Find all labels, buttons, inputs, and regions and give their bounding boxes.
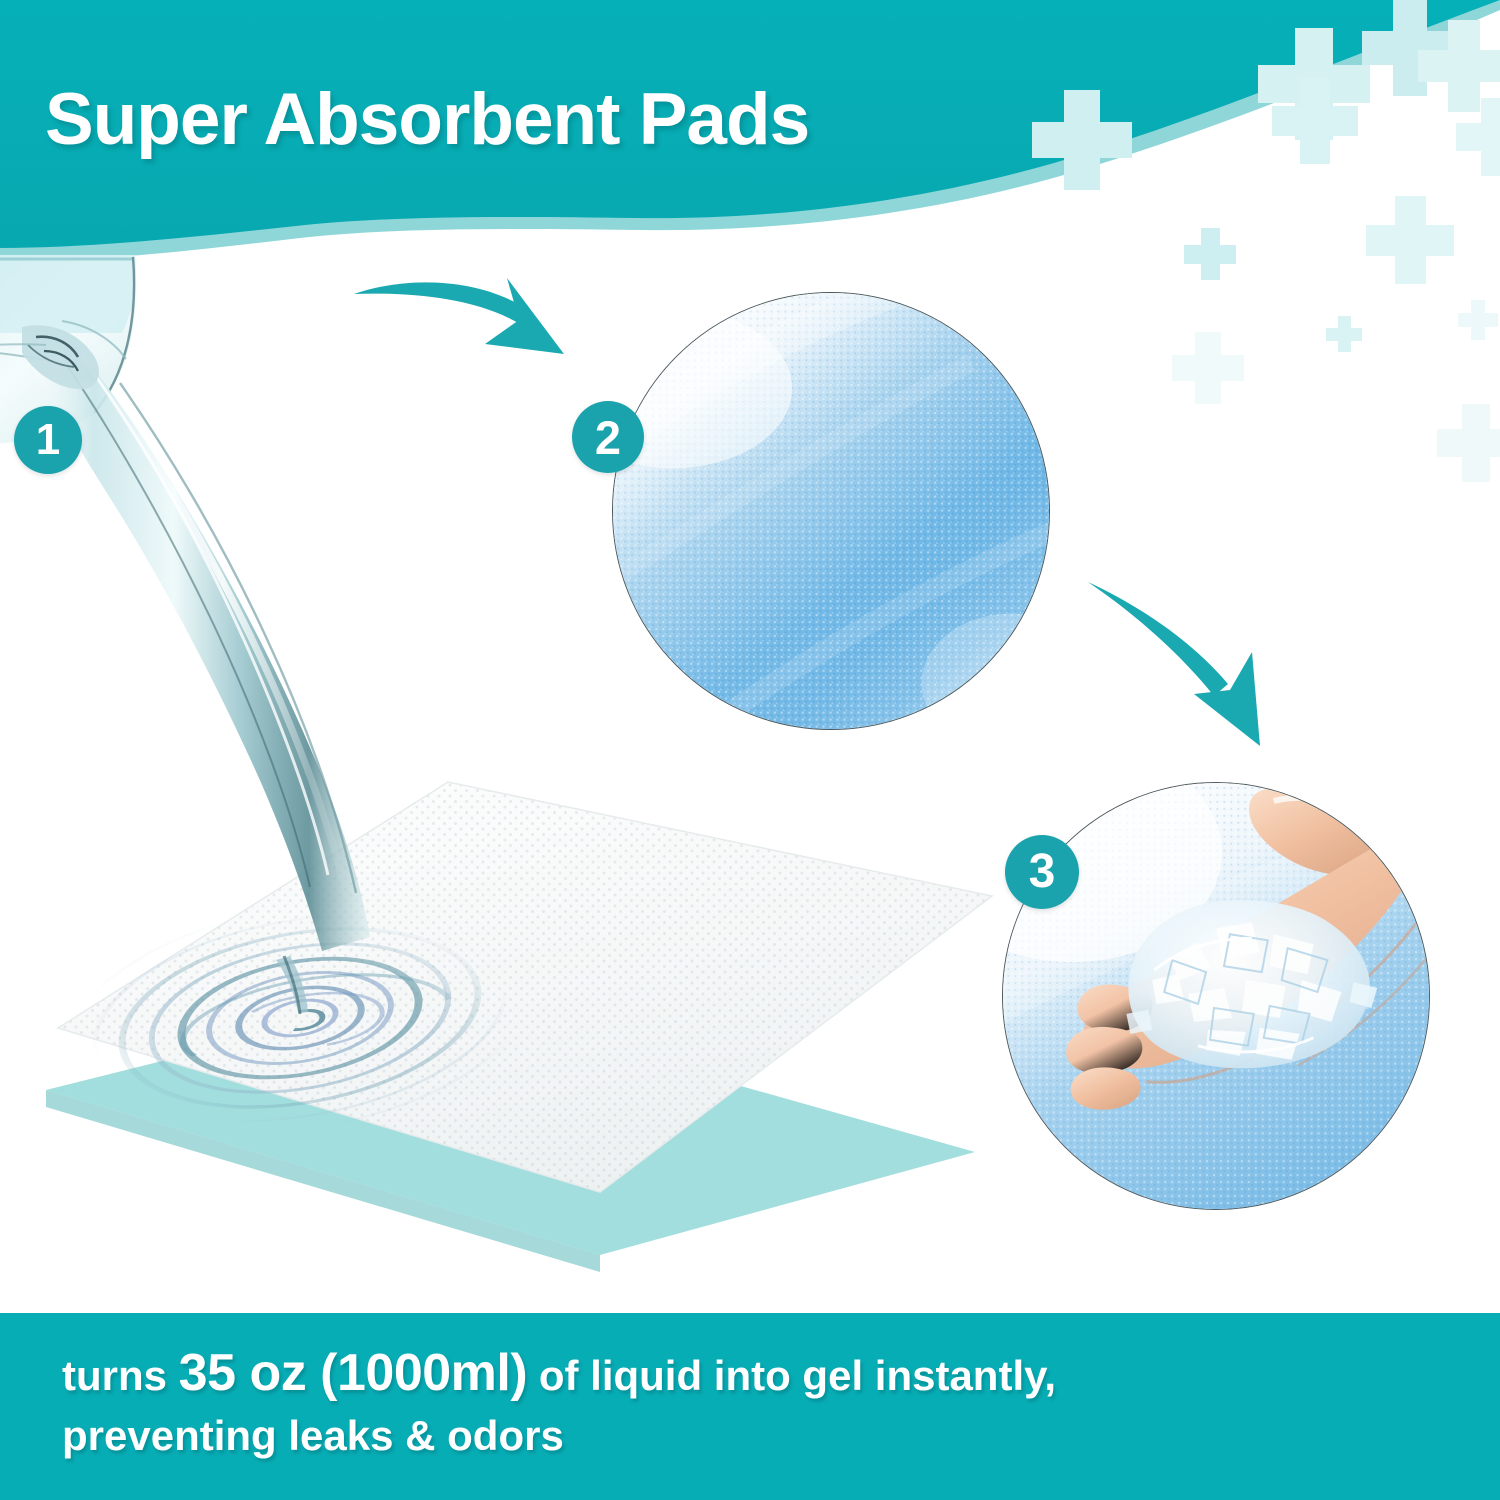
- step-badge-2-label: 2: [595, 414, 621, 461]
- step-badge-1: 1: [14, 406, 82, 474]
- plus-cross-icon: [1456, 98, 1500, 176]
- step-badge-1-label: 1: [36, 418, 60, 462]
- step2-absorbent-core-photo: [612, 292, 1050, 730]
- claim-suffix: of liquid into gel instantly,: [527, 1352, 1056, 1399]
- claim-prefix: turns: [62, 1352, 179, 1399]
- plus-cross-icon: [1184, 228, 1236, 280]
- plus-cross-icon: [1326, 316, 1362, 352]
- plus-cross-icon: [1458, 300, 1498, 340]
- product-infographic: Super Absorbent Pads: [0, 0, 1500, 1500]
- impact-column: [276, 956, 308, 1014]
- absorbent-pad-image: [40, 760, 1000, 1300]
- step-badge-3-label: 3: [1029, 848, 1056, 896]
- plus-cross-icon: [1172, 332, 1244, 404]
- water-stream: [32, 345, 370, 951]
- pad-backing-layer: [46, 996, 975, 1255]
- bottom-claim-banner: turns 35 oz (1000ml) of liquid into gel …: [0, 1313, 1500, 1500]
- claim-capacity-highlight: 35 oz (1000ml): [179, 1344, 528, 1402]
- step-badge-3: 3: [1005, 835, 1079, 909]
- plus-cross-icon: [1362, 0, 1458, 96]
- bottom-claim-text: turns 35 oz (1000ml) of liquid into gel …: [62, 1339, 1442, 1464]
- plus-cross-icon: [1418, 20, 1500, 112]
- liquid-ripple-swirl: [48, 868, 551, 1168]
- step-badge-2: 2: [572, 401, 644, 473]
- arrow-step1-to-step2-icon: [352, 248, 602, 385]
- pad-surface: [58, 782, 992, 1192]
- arrow-step2-to-step3-icon: [1082, 578, 1314, 765]
- plus-cross-icon: [1366, 196, 1454, 284]
- plus-cross-icon: [1258, 28, 1370, 140]
- page-title: Super Absorbent Pads: [45, 83, 809, 156]
- plus-cross-icon: [1272, 78, 1358, 164]
- plus-cross-icon: [1032, 90, 1132, 190]
- plus-cross-icon: [1437, 404, 1500, 482]
- claim-line2: preventing leaks & odors: [62, 1412, 564, 1459]
- water-pour-image: [0, 225, 440, 1055]
- water-splash-turbulence: [0, 321, 126, 389]
